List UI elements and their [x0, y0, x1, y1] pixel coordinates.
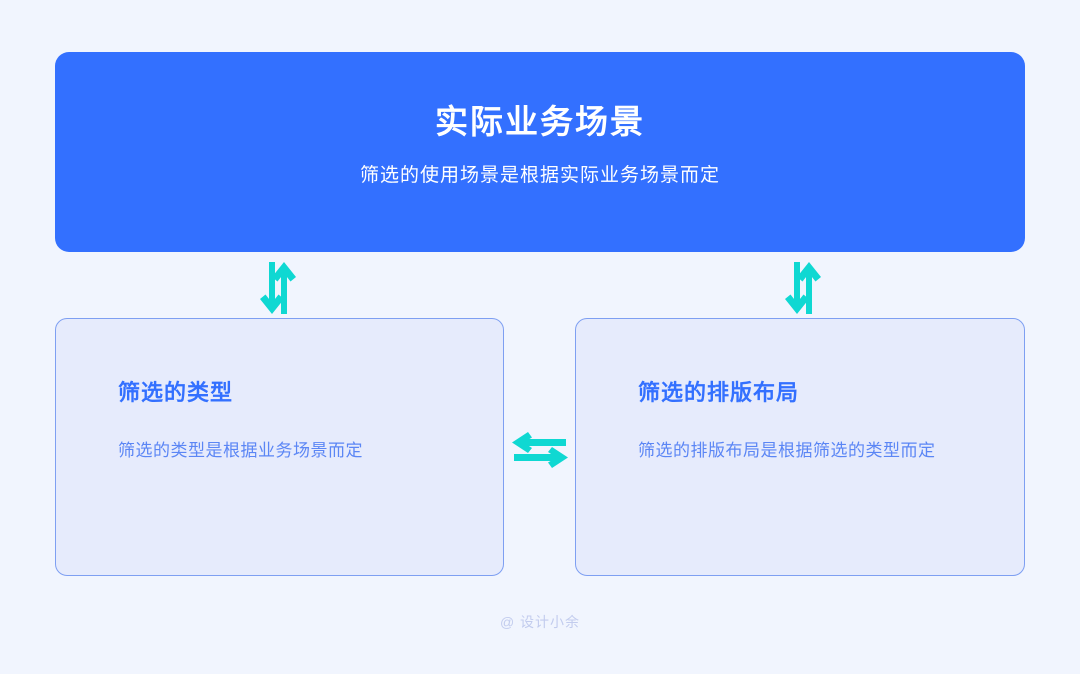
info-card-content: 筛选的排版布局 筛选的排版布局是根据筛选的类型而定 [638, 379, 988, 465]
horizontal-exchange-arrow-icon [512, 428, 568, 472]
footer-watermark: @ 设计小余 [0, 612, 1080, 632]
vertical-double-arrow-left-icon [256, 262, 300, 314]
info-card-heading: 筛选的类型 [118, 379, 467, 408]
info-card-filter-layout: 筛选的排版布局 筛选的排版布局是根据筛选的类型而定 [575, 318, 1025, 576]
hero-title: 实际业务场景 [435, 102, 645, 142]
info-card-heading: 筛选的排版布局 [638, 379, 988, 408]
info-card-filter-type: 筛选的类型 筛选的类型是根据业务场景而定 [55, 318, 504, 576]
info-card-body: 筛选的类型是根据业务场景而定 [118, 436, 428, 466]
hero-subtitle: 筛选的使用场景是根据实际业务场景而定 [360, 164, 720, 189]
info-card-content: 筛选的类型 筛选的类型是根据业务场景而定 [118, 379, 467, 465]
hero-card: 实际业务场景 筛选的使用场景是根据实际业务场景而定 [55, 52, 1025, 252]
vertical-double-arrow-right-icon [781, 262, 825, 314]
info-card-body: 筛选的排版布局是根据筛选的类型而定 [638, 436, 938, 466]
diagram-canvas: 实际业务场景 筛选的使用场景是根据实际业务场景而定 [0, 0, 1080, 674]
